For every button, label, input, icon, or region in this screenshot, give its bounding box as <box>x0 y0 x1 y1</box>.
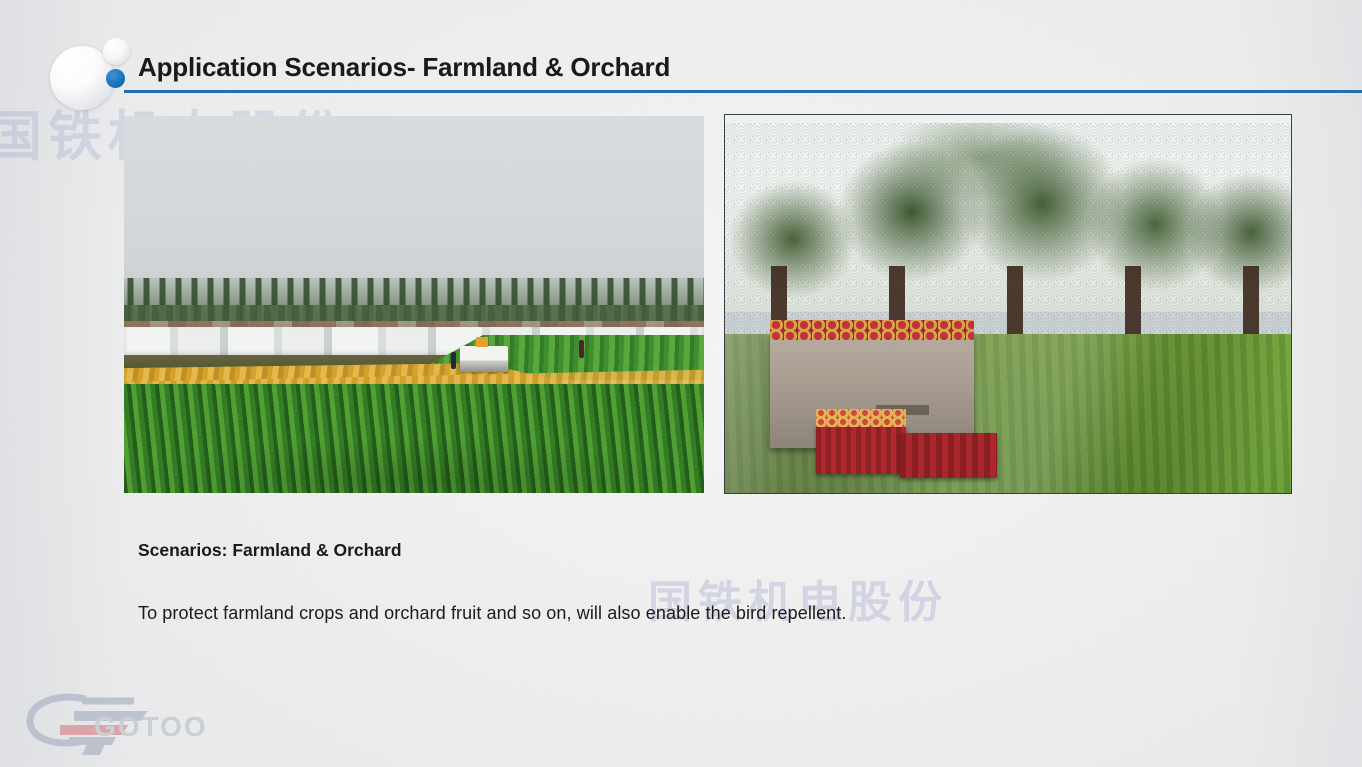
farmland-corn-field <box>124 384 704 493</box>
slide-canvas: 国铁机电股份 国铁机电股份 国铁机电股份 Application Scenari… <box>0 0 1362 767</box>
gotoo-logo: GOTOO <box>16 681 226 761</box>
farmer-figure-2 <box>579 340 584 358</box>
title-underline-rule <box>124 90 1362 93</box>
red-apple-crate-1 <box>816 425 907 474</box>
farmer-figure-1 <box>451 352 456 369</box>
small-circle-icon <box>103 38 130 65</box>
farm-vehicle <box>460 346 508 372</box>
red-apple-crate-2 <box>900 433 996 478</box>
farmland-photo <box>124 116 704 493</box>
left-vignette <box>0 0 124 767</box>
scenarios-subtitle: Scenarios: Farmland & Orchard <box>138 540 402 561</box>
blue-dot-icon <box>106 69 125 88</box>
header-decoration <box>50 38 140 110</box>
farmland-treeline <box>124 278 704 327</box>
orchard-photo <box>724 114 1292 494</box>
logo-wordmark: GOTOO <box>94 711 208 743</box>
page-title: Application Scenarios- Farmland & Orchar… <box>138 52 670 83</box>
scenarios-body-text: To protect farmland crops and orchard fr… <box>138 603 847 624</box>
